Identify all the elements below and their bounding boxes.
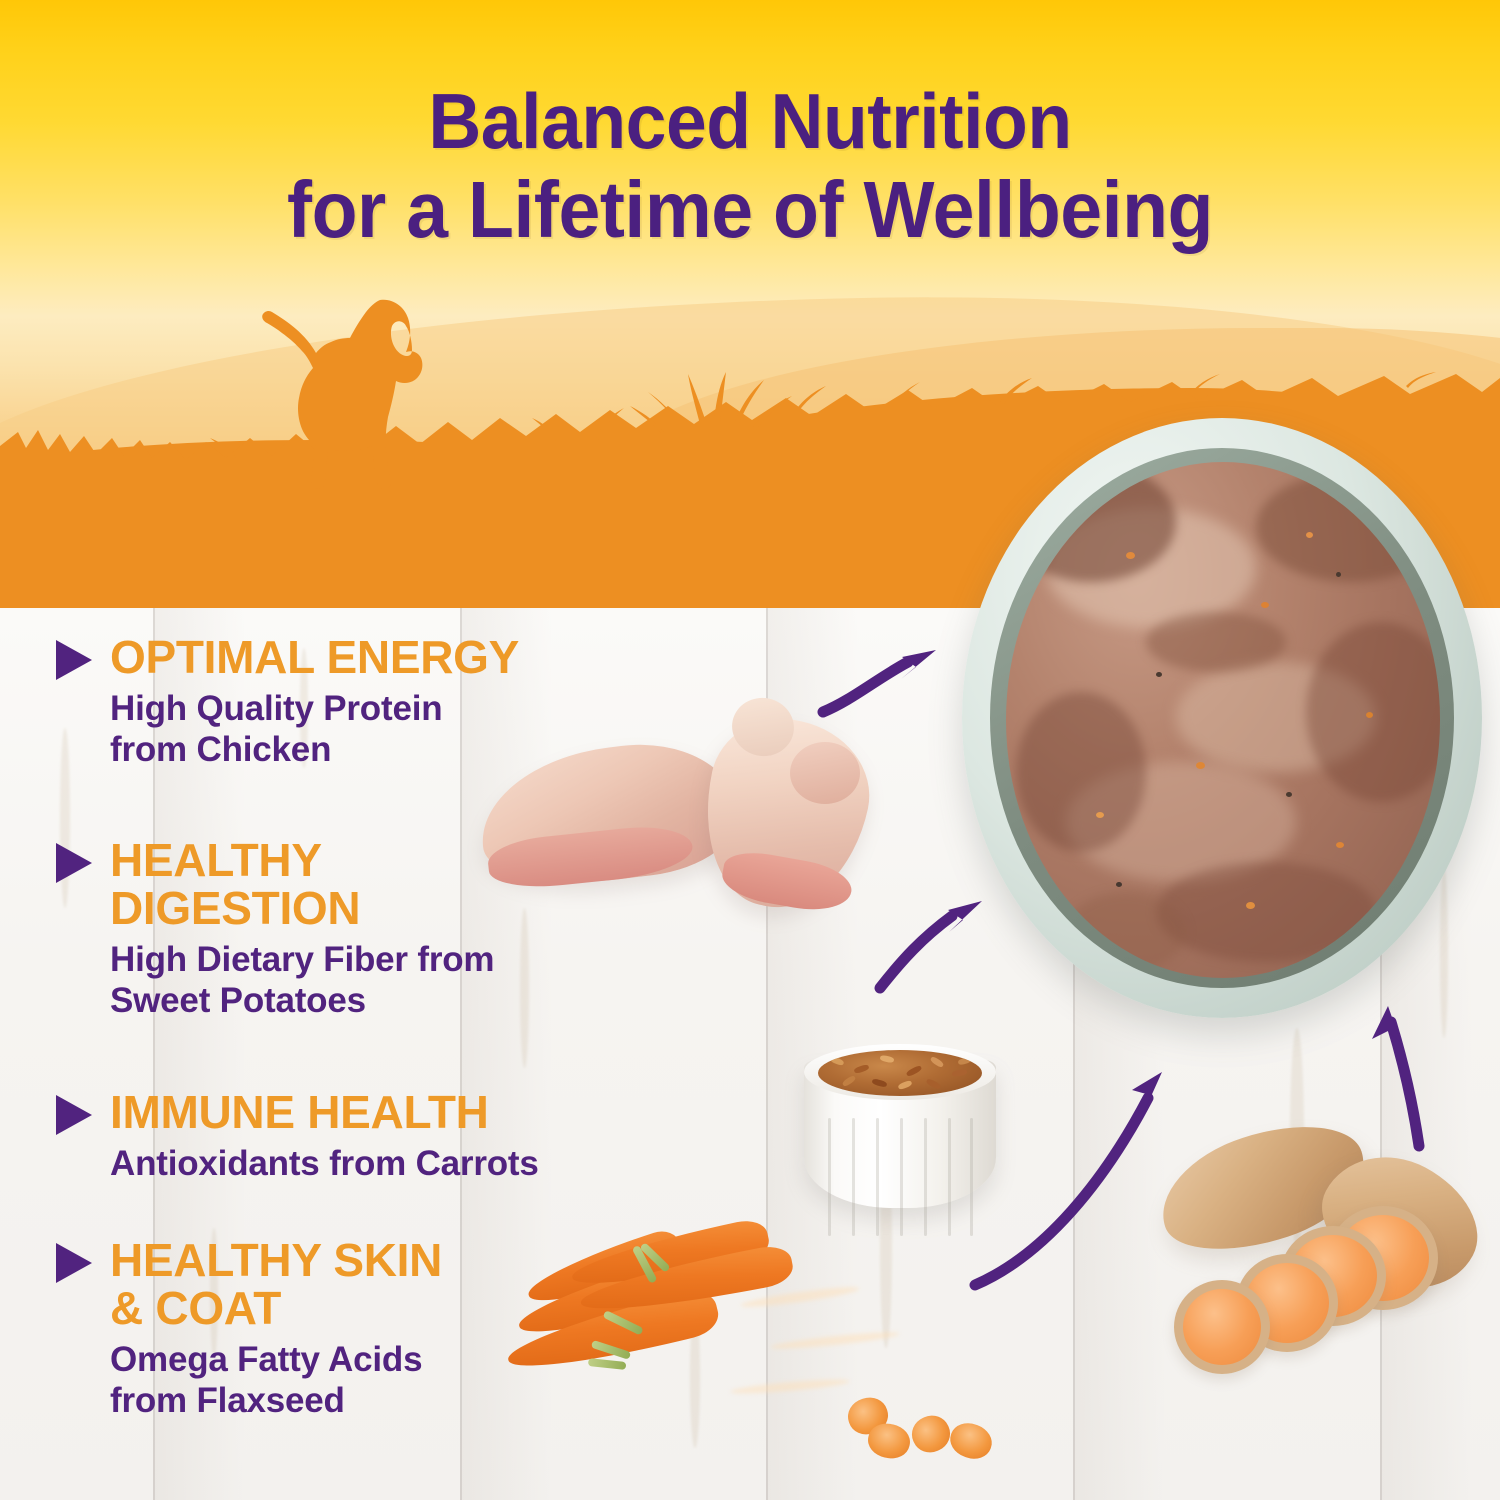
benefit-item-optimal-energy[interactable]: OPTIMAL ENERGY High Quality Protein from… [48, 634, 519, 770]
benefit-item-immune-health[interactable]: IMMUNE HEALTH Antioxidants from Carrots [48, 1089, 539, 1184]
flaxseed-fill [818, 1050, 982, 1096]
carrots-group [620, 1232, 1070, 1500]
benefit-heading-line-2: DIGESTION [110, 885, 494, 933]
carrot-slice [906, 1410, 955, 1458]
benefit-item-healthy-skin-coat[interactable]: HEALTHY SKIN & COAT Omega Fatty Acids fr… [48, 1237, 442, 1421]
triangle-arrow-icon [56, 843, 92, 883]
title-line-1: Balanced Nutrition [428, 77, 1071, 165]
pate-food [1006, 462, 1440, 978]
triangle-arrow-icon [56, 1243, 92, 1283]
benefit-item-healthy-digestion[interactable]: HEALTHY DIGESTION High Dietary Fiber fro… [48, 837, 494, 1021]
benefit-heading-line-1: HEALTHY SKIN [110, 1237, 442, 1285]
triangle-arrow-icon [56, 640, 92, 680]
benefit-subtext-line-1: High Quality Protein [110, 688, 519, 729]
title-line-2: for a Lifetime of Wellbeing [45, 165, 1455, 255]
page-title: Balanced Nutrition for a Lifetime of Wel… [45, 78, 1455, 255]
benefit-subtext-line-2: from Flaxseed [110, 1380, 442, 1421]
dog-food-bowl [940, 408, 1500, 1028]
sweet-potato-slice [1174, 1280, 1270, 1374]
benefit-subtext-line-2: Sweet Potatoes [110, 980, 494, 1021]
chicken-joint [790, 742, 860, 804]
benefit-heading: OPTIMAL ENERGY [110, 634, 519, 682]
sweet-potatoes-group [1140, 1128, 1500, 1418]
dog-silhouette-icon [258, 286, 458, 496]
flaxseed-ramekin [790, 1018, 1010, 1218]
carrot-slice [945, 1418, 996, 1464]
benefit-heading-line-2: & COAT [110, 1285, 442, 1333]
benefit-heading: IMMUNE HEALTH [110, 1089, 539, 1137]
raw-chicken-pieces [470, 690, 890, 930]
benefit-subtext-line-1: Omega Fatty Acids [110, 1339, 442, 1380]
benefit-heading-line-1: HEALTHY [110, 837, 494, 885]
benefit-subtext-line-1: Antioxidants from Carrots [110, 1143, 539, 1184]
benefit-subtext-line-2: from Chicken [110, 729, 519, 770]
infographic-canvas: Balanced Nutrition for a Lifetime of Wel… [0, 0, 1500, 1500]
triangle-arrow-icon [56, 1095, 92, 1135]
benefit-subtext-line-1: High Dietary Fiber from [110, 939, 494, 980]
